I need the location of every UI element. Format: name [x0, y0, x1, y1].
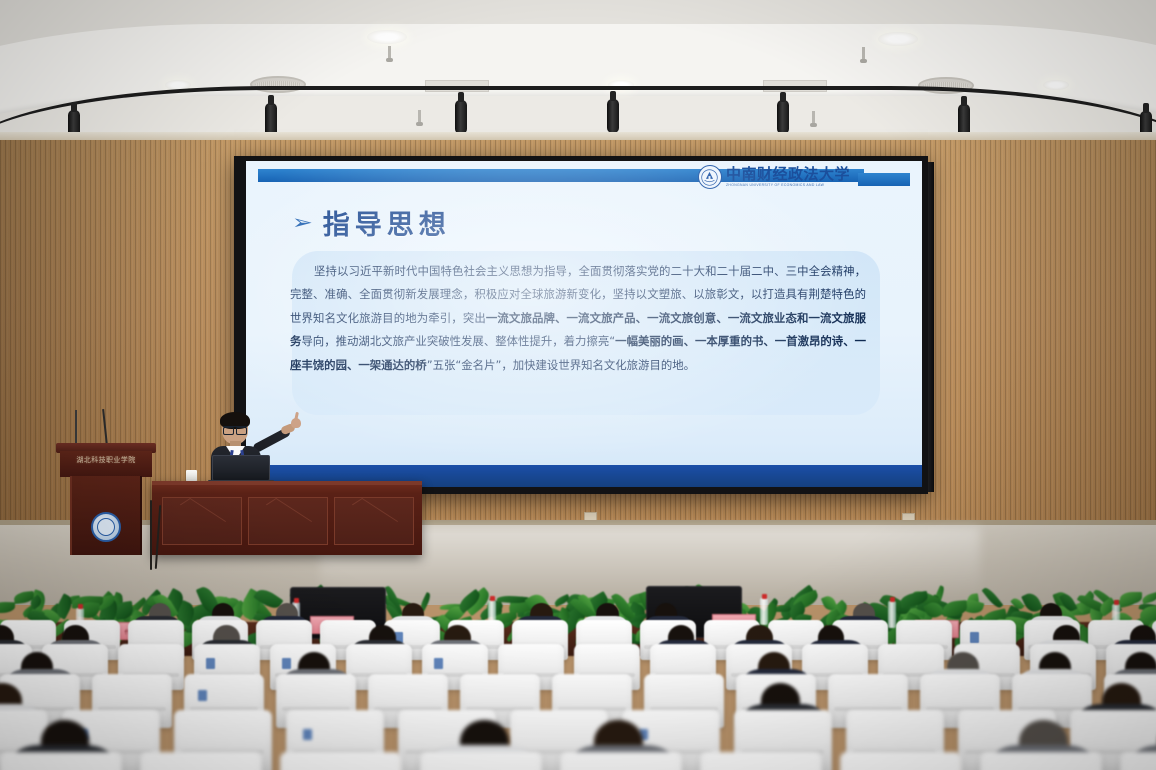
sprinkler-icon: [862, 47, 865, 60]
lectern-podium: 湖北科技职业学院: [60, 443, 152, 555]
power-cable: [150, 500, 152, 570]
audience-chair: [420, 752, 542, 770]
audience-chair: [840, 752, 962, 770]
university-crest-icon: [698, 165, 722, 189]
table-panel: [334, 497, 414, 545]
audience-chair: [560, 752, 682, 770]
glasses-icon: [223, 426, 247, 432]
laptop-screen: [212, 455, 270, 481]
plant-leaf: [982, 585, 1004, 610]
presenter-table: [152, 481, 422, 555]
arrow-bullet-icon: ➢: [292, 213, 313, 233]
slide-title-row: ➢ 指导思想: [294, 203, 451, 242]
spotlight-icon: [455, 100, 467, 134]
downlight-icon: [878, 32, 918, 46]
audience-chair: [1120, 752, 1156, 770]
slide-body-text: 坚持以习近平新时代中国特色社会主义思想为指导，全面贯彻落实党的二十大和二十届二中…: [290, 260, 866, 377]
university-name-cn: 中南财经政法大学: [726, 167, 850, 182]
plant-leaf: [1120, 592, 1142, 604]
table-panel: [248, 497, 328, 545]
presentation-slide: 中南财经政法大学 ZHONGNAN UNIVERSITY OF ECONOMIC…: [246, 161, 922, 487]
projection-screen: 中南财经政法大学 ZHONGNAN UNIVERSITY OF ECONOMIC…: [234, 156, 928, 494]
school-crest-icon: [91, 512, 121, 542]
microphone-stand: [75, 410, 77, 444]
spotlight-icon: [777, 100, 789, 134]
slide-title: 指导思想: [323, 203, 451, 242]
downlight-icon: [367, 30, 407, 44]
audience-chair: [980, 752, 1102, 770]
school-crest-inner: [97, 518, 115, 536]
podium-body: [70, 476, 142, 555]
podium-institution-name: 湖北科技职业学院: [60, 455, 152, 465]
sprinkler-icon: [388, 46, 391, 59]
track-lighting: [0, 86, 1156, 120]
audience-seating: [0, 612, 1156, 770]
university-logo: 中南财经政法大学 ZHONGNAN UNIVERSITY OF ECONOMIC…: [698, 164, 850, 190]
audience-chair: [140, 752, 262, 770]
university-name-en: ZHONGNAN UNIVERSITY OF ECONOMICS AND LAW: [726, 184, 850, 188]
audience-chair: [0, 752, 122, 770]
slide-header-bar-right: [858, 173, 910, 186]
table-panel: [162, 497, 242, 545]
slide-body-run: ”五张“金名片”，加快建设世界知名文化旅游目的地。: [427, 358, 695, 372]
spotlight-icon: [607, 99, 619, 133]
audience-chair: [280, 752, 402, 770]
slide-body-run: 导向，推动湖北文旅产业突破性发展、整体性提升，着力擦亮“: [301, 334, 615, 348]
audience-chair: [700, 752, 822, 770]
lecture-hall-photo: 中南财经政法大学 ZHONGNAN UNIVERSITY OF ECONOMIC…: [0, 0, 1156, 770]
